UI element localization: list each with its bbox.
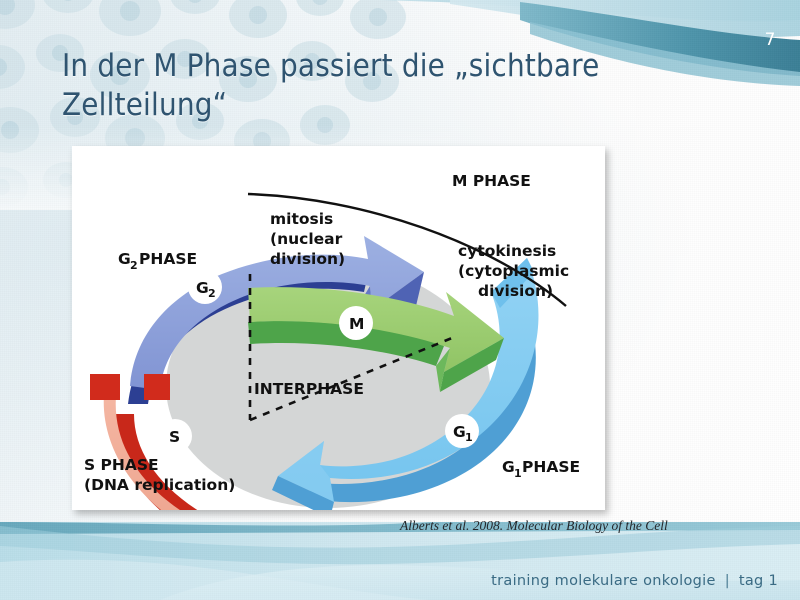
- mitosis-annotation: mitosis (nuclear division): [270, 210, 345, 268]
- cell-cycle-figure-panel: M PHASE mitosis (nuclear division) cytok…: [72, 146, 605, 510]
- svg-text:cytokinesis: cytokinesis: [458, 242, 556, 260]
- footer-day: tag 1: [739, 573, 778, 589]
- footer-separator: |: [716, 573, 739, 589]
- svg-text:S: S: [169, 428, 180, 446]
- figure-credit: Alberts et al. 2008. Molecular Biology o…: [400, 518, 668, 534]
- badge-s: S: [158, 419, 192, 453]
- cell-cycle-diagram: M PHASE mitosis (nuclear division) cytok…: [72, 146, 605, 510]
- svg-text:1: 1: [465, 431, 473, 444]
- svg-text:division): division): [478, 282, 553, 300]
- footer-title: training molekulare onkologie: [491, 573, 716, 589]
- footer: training molekulare onkologie|tag 1: [491, 573, 778, 589]
- interphase-label: INTERPHASE: [254, 380, 364, 398]
- svg-text:1: 1: [514, 467, 522, 480]
- svg-text:(nuclear: (nuclear: [270, 230, 343, 248]
- g1-phase-label: G 1 PHASE: [502, 458, 580, 480]
- g2-phase-label: G 2 PHASE: [118, 250, 197, 272]
- svg-text:M: M: [349, 315, 364, 333]
- svg-text:PHASE: PHASE: [522, 458, 580, 476]
- svg-text:2: 2: [208, 287, 216, 300]
- svg-text:S PHASE: S PHASE: [84, 456, 159, 474]
- svg-text:G: G: [453, 423, 466, 441]
- cytokinesis-annotation: cytokinesis (cytoplasmic division): [458, 242, 569, 300]
- svg-text:division): division): [270, 250, 345, 268]
- badge-g2: G 2: [188, 270, 222, 304]
- svg-text:PHASE: PHASE: [139, 250, 197, 268]
- svg-text:G: G: [196, 279, 209, 297]
- svg-text:G: G: [502, 458, 515, 476]
- svg-text:2: 2: [130, 259, 138, 272]
- badge-m: M: [339, 306, 373, 340]
- svg-text:mitosis: mitosis: [270, 210, 333, 228]
- page-number: 7: [765, 30, 776, 50]
- svg-text:(cytoplasmic: (cytoplasmic: [458, 262, 569, 280]
- page-title: In der M Phase passiert die „sichtbare Z…: [62, 47, 722, 126]
- svg-text:G: G: [118, 250, 131, 268]
- slide: In der M Phase passiert die „sichtbare Z…: [0, 0, 800, 600]
- m-phase-label: M PHASE: [452, 172, 531, 190]
- svg-text:(DNA replication): (DNA replication): [84, 476, 235, 494]
- badge-g1: G 1: [445, 414, 479, 448]
